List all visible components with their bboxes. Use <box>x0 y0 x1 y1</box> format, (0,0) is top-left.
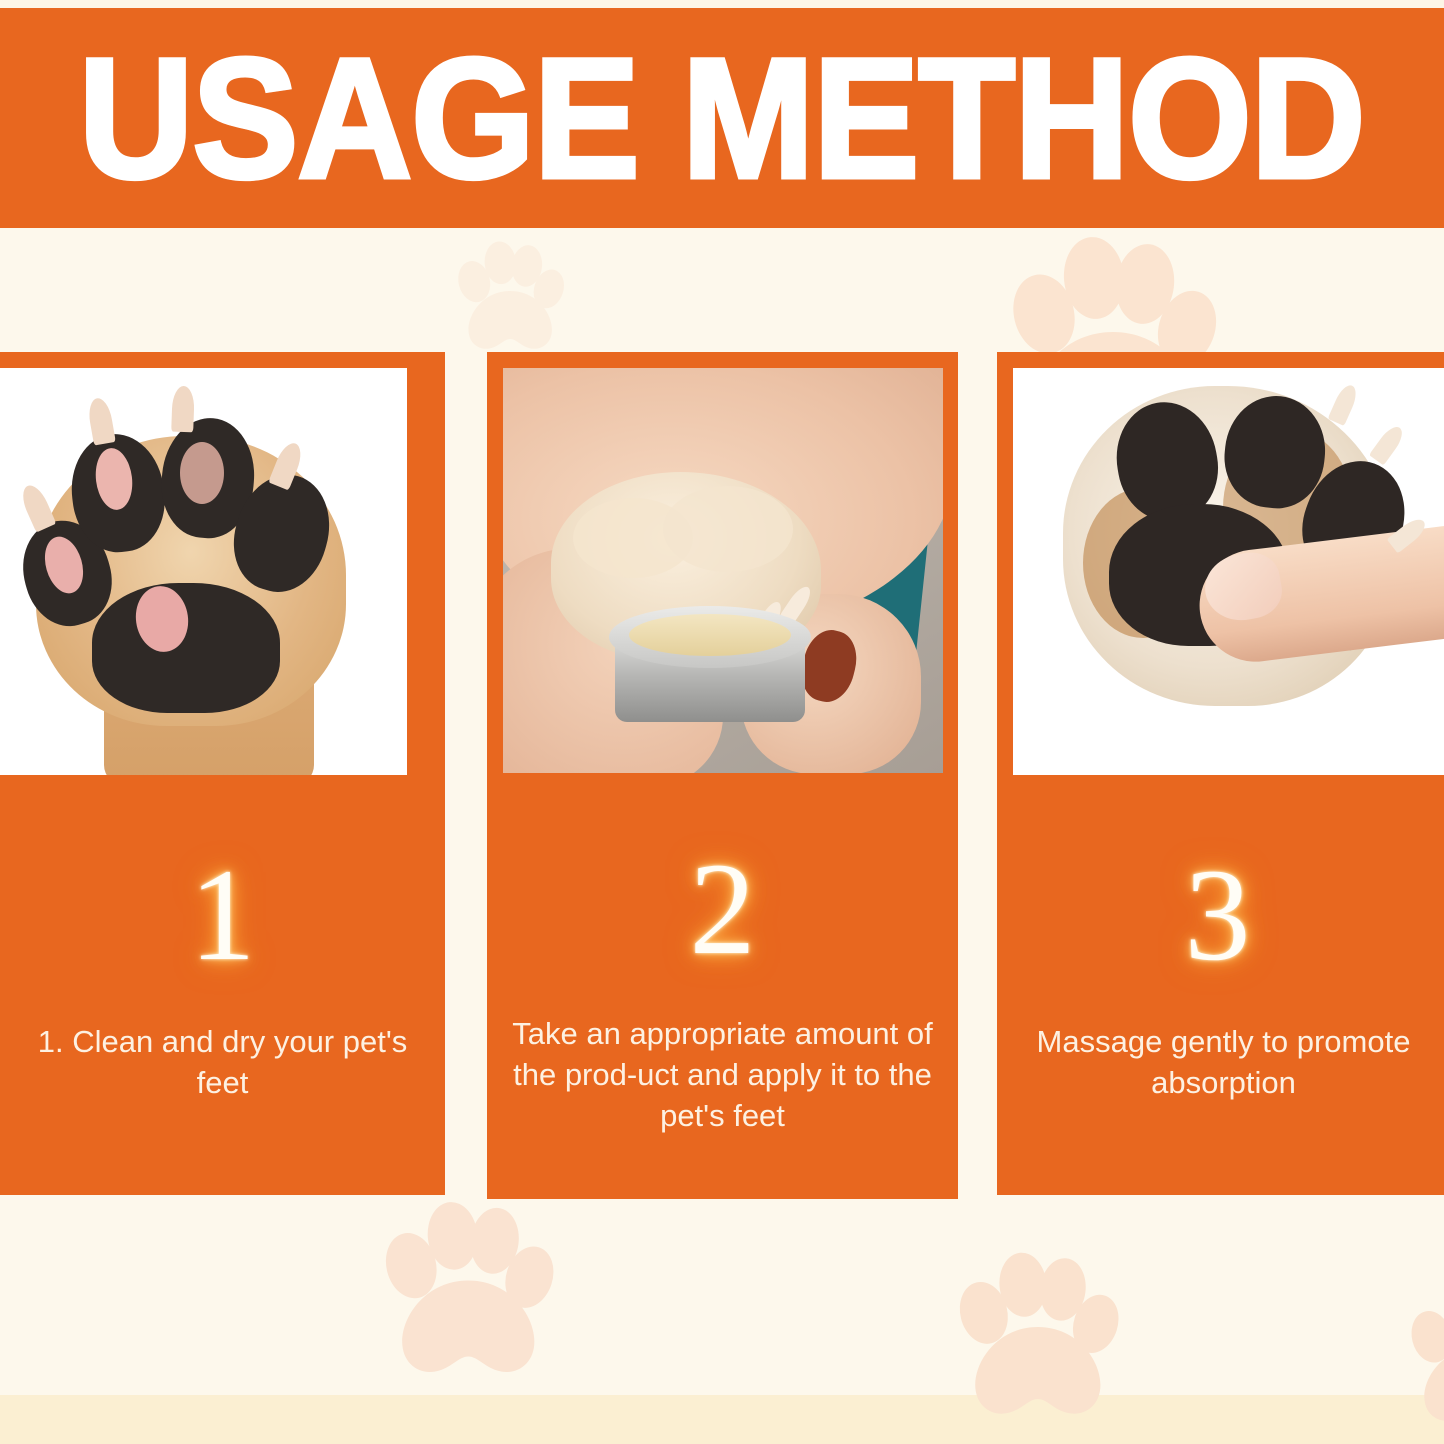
step-number: 2 <box>690 843 756 975</box>
step-card-1: 1 1. Clean and dry your pet's feet <box>0 352 445 1195</box>
step-caption: Massage gently to promote absorption <box>1014 1021 1434 1103</box>
step-card-3: 3 Massage gently to promote absorption <box>997 352 1444 1195</box>
step-3-photo <box>1013 368 1444 775</box>
step-caption: 1. Clean and dry your pet's feet <box>18 1021 428 1103</box>
step-caption: Take an appropriate amount of the prod-u… <box>498 1013 948 1137</box>
step-1-photo <box>0 368 407 775</box>
background-band-bottom <box>0 1395 1444 1444</box>
step-2-photo <box>503 368 943 773</box>
header-banner: USAGE METHOD <box>0 8 1444 228</box>
page-title: USAGE METHOD <box>79 38 1365 199</box>
step-card-2: 2 Take an appropriate amount of the prod… <box>487 352 958 1199</box>
step-number: 3 <box>1185 849 1251 981</box>
background-band-top <box>0 0 1444 8</box>
step-number: 1 <box>190 849 256 981</box>
